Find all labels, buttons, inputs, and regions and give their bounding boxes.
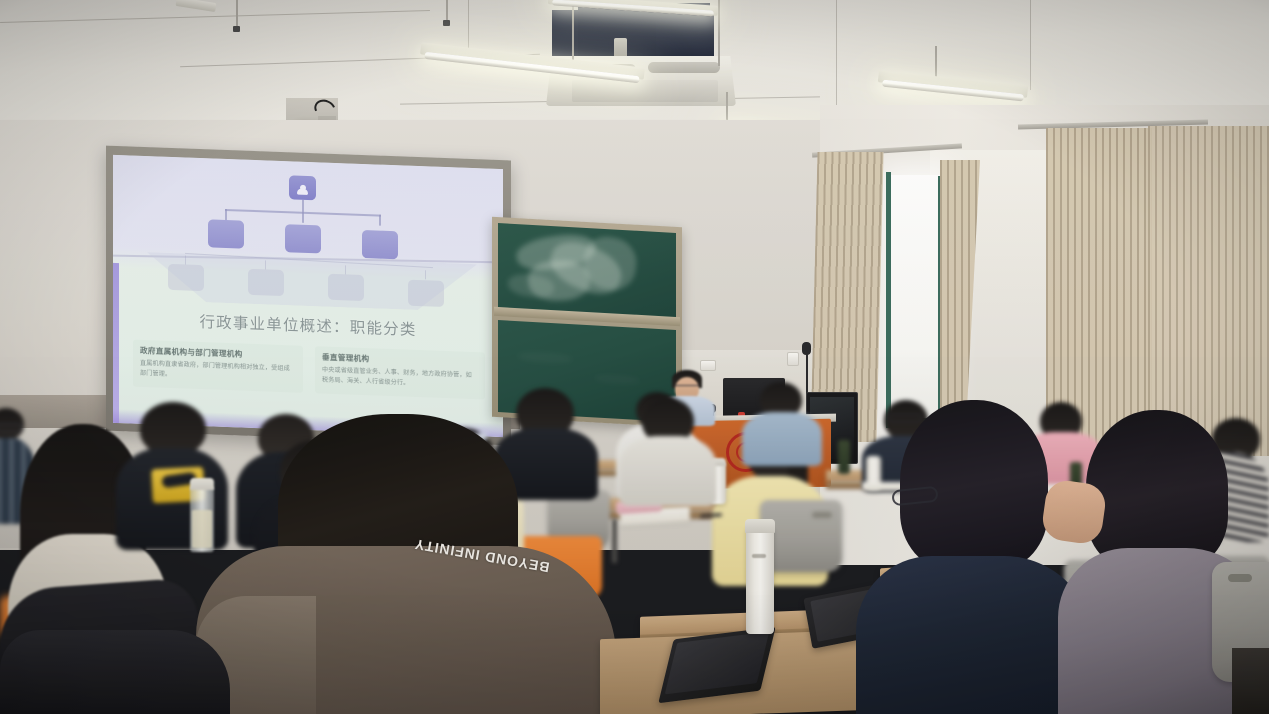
- desk-leg: [612, 519, 617, 563]
- org-chart-node: [328, 274, 364, 301]
- ceiling-panel-line: [468, 0, 469, 52]
- org-chart-node: [408, 280, 444, 307]
- slide-card: 垂直管理机构 中央或省级直管业务、人事、财务，地方政府协管，如税务局、海关、人行…: [315, 346, 485, 399]
- light-rod: [236, 0, 238, 28]
- light-rod: [935, 46, 937, 80]
- ac-support-rod: [718, 0, 720, 66]
- org-chart-root-node: [289, 175, 316, 200]
- chair-handle-slot: [812, 512, 832, 518]
- org-chart-connector: [302, 212, 304, 223]
- ac-vent: [648, 62, 720, 73]
- org-chart-node: [362, 230, 398, 259]
- chalk-smudge: [594, 373, 640, 385]
- org-chart-connector: [265, 260, 266, 269]
- window-frame: [886, 172, 891, 428]
- thermos-bottle: [746, 526, 774, 634]
- thermos-label: [752, 554, 766, 558]
- slide-card: 政府直属机构与部门管理机构 直属机构直隶省政府，部门管理机构相对独立，受组成部门…: [133, 340, 303, 393]
- org-chart-connector: [379, 215, 381, 226]
- org-chart-node: [285, 224, 321, 253]
- slide-accent-bar: [113, 263, 119, 423]
- student-head: [900, 400, 1048, 570]
- bottle-cap: [190, 478, 214, 490]
- org-chart-connector: [225, 209, 227, 220]
- org-chart-connector: [302, 200, 304, 212]
- chair-handle-slot: [1228, 574, 1252, 582]
- window-pane: [890, 175, 942, 425]
- light-mount: [233, 26, 240, 32]
- eyeglasses: [675, 385, 699, 390]
- microphone-icon: [802, 342, 811, 355]
- org-chart-node: [248, 269, 284, 296]
- thermos-cap: [745, 519, 775, 533]
- student-top: [620, 436, 716, 506]
- slide-cards: 政府直属机构与部门管理机构 直属机构直隶省政府，部门管理机构相对独立，受组成部门…: [133, 340, 485, 400]
- slide-card-body: 中央或省级直管业务、人事、财务，地方政府协管，如税务局、海关、人行省级分行。: [322, 366, 478, 392]
- light-rod: [446, 0, 448, 22]
- curtain-far-right: [1148, 126, 1269, 456]
- foreground-shoulder-left: [0, 630, 230, 714]
- person-icon-body: [297, 189, 308, 195]
- dark-bottle: [838, 440, 850, 474]
- light-mount: [443, 20, 450, 26]
- chalk-smudge: [518, 351, 572, 364]
- bottle-contents: [192, 510, 212, 548]
- org-chart-connector: [345, 265, 346, 274]
- slide-card-body: 直属机构直隶省政府，部门管理机构相对独立，受组成部门管理。: [140, 359, 296, 385]
- org-chart-node: [168, 264, 204, 291]
- eyeglasses: [0, 424, 22, 432]
- eyeglasses: [888, 414, 922, 422]
- foreground-shoulder-right: [1232, 648, 1269, 714]
- ceiling-panel-line: [836, 0, 837, 120]
- student-head: [1086, 410, 1228, 570]
- ceiling-panel-line: [1030, 0, 1031, 90]
- light-switch: [787, 352, 799, 366]
- student-top: [742, 412, 822, 466]
- org-chart-connector: [425, 270, 426, 279]
- slide-title: 行政事业单位概述：职能分类: [113, 307, 503, 343]
- projection-screen: 行政事业单位概述：职能分类 政府直属机构与部门管理机构 直属机构直隶省政府，部门…: [113, 155, 503, 437]
- classroom-photo: 行政事业单位概述：职能分类 政府直属机构与部门管理机构 直属机构直隶省政府，部门…: [0, 0, 1269, 714]
- org-chart-connector: [185, 255, 186, 264]
- wall-outlet: [700, 360, 716, 371]
- slide: 行政事业单位概述：职能分类 政府直属机构与部门管理机构 直属机构直隶省政府，部门…: [113, 155, 503, 437]
- ac-grille: [572, 80, 718, 102]
- org-chart-node: [208, 219, 244, 248]
- blackboard-panel-upper: [498, 223, 676, 321]
